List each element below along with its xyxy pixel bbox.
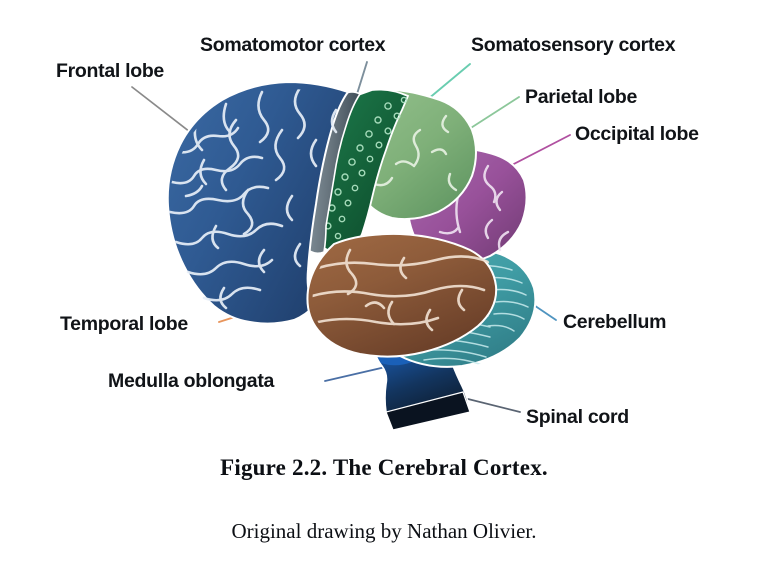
label-temporal-lobe: Temporal lobe [60, 315, 188, 335]
figure-caption: Figure 2.2. The Cerebral Cortex. [0, 455, 768, 481]
label-frontal-lobe: Frontal lobe [56, 62, 164, 82]
label-spinal-cord: Spinal cord [526, 408, 629, 428]
label-cerebellum: Cerebellum [563, 313, 666, 333]
label-somatomotor-cortex: Somatomotor cortex [200, 36, 385, 56]
leader-occipital-lobe [506, 135, 570, 168]
label-parietal-lobe: Parietal lobe [525, 88, 637, 108]
label-somatosensory-cortex: Somatosensory cortex [471, 36, 675, 56]
figure-credit: Original drawing by Nathan Olivier. [0, 519, 768, 544]
label-medulla-oblongata: Medulla oblongata [108, 372, 274, 392]
label-occipital-lobe: Occipital lobe [575, 125, 699, 145]
figure-page: Frontal lobe Somatomotor cortex Somatose… [0, 0, 768, 563]
